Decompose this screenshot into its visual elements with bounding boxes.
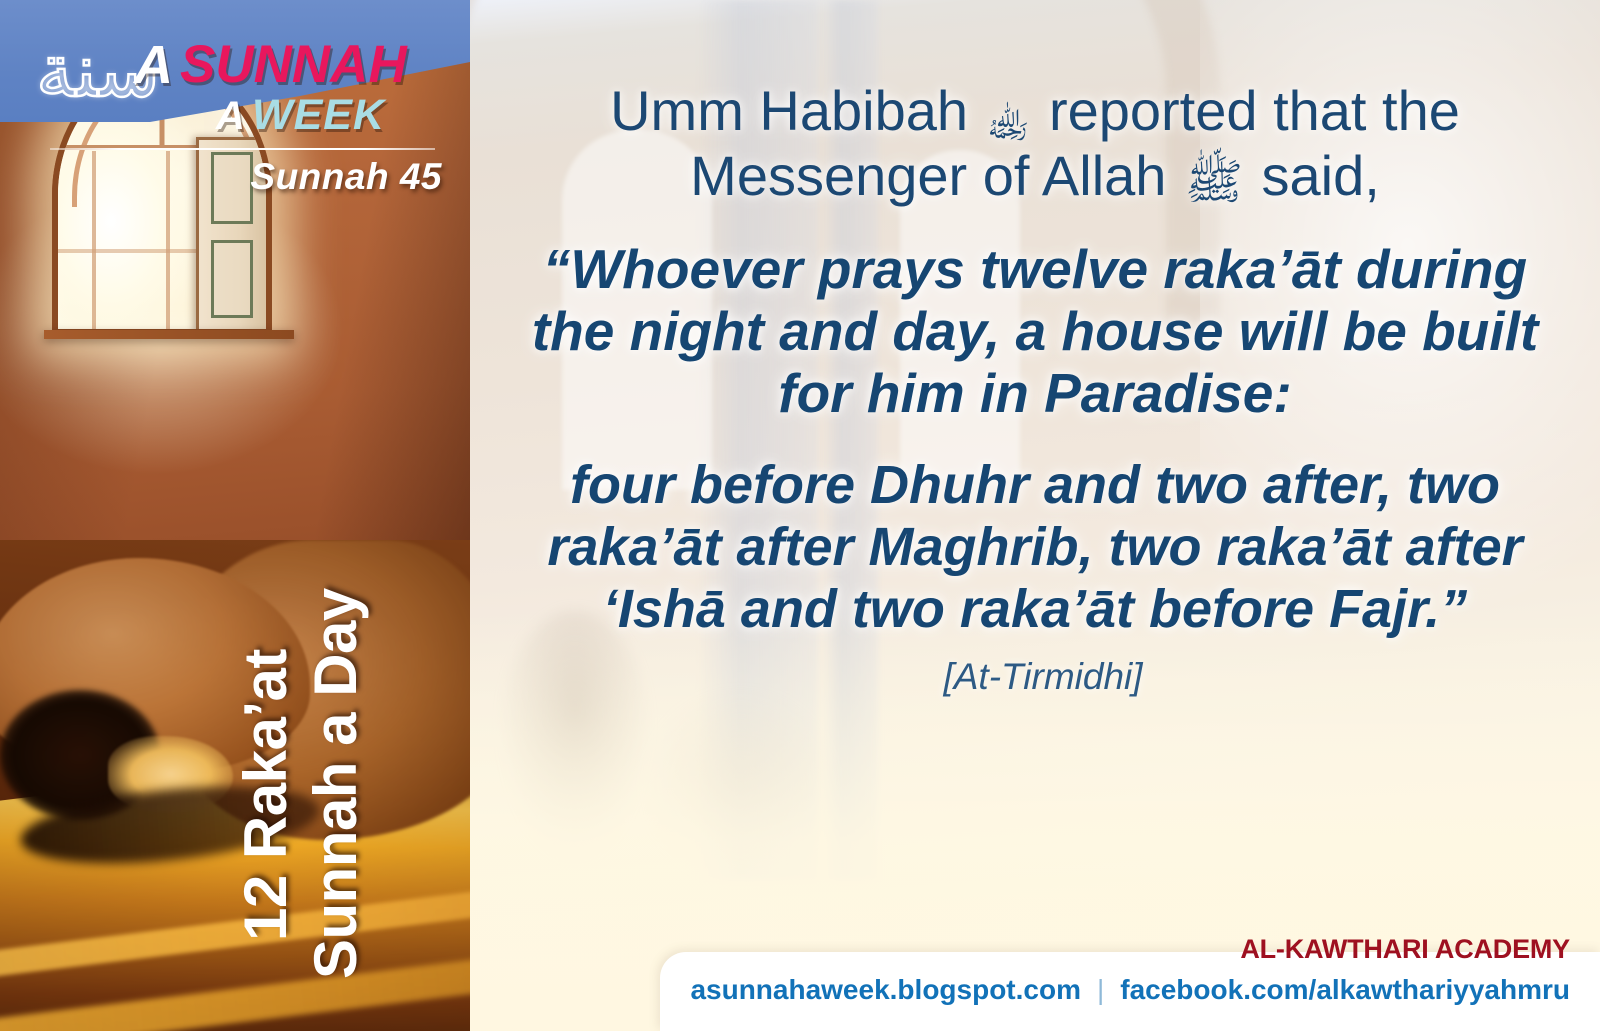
brand-logo: سنة A SUNNAH A WEEK xyxy=(36,20,436,132)
facebook-link[interactable]: facebook.com/alkawthariyyahmru xyxy=(1120,974,1570,1005)
hadith-content: Umm Habibah ﵀ reported that the Messenge… xyxy=(470,0,1600,702)
hadith-quote-detail: four before Dhuhr and two after, two rak… xyxy=(492,454,1578,702)
blog-link[interactable]: asunnahaweek.blogspot.com xyxy=(690,974,1081,1005)
issue-label: Sunnah 45 xyxy=(250,156,442,198)
window-sill xyxy=(44,330,294,339)
hadith-quote-detail-text: four before Dhuhr and two after, two rak… xyxy=(547,455,1522,639)
shutter-panel-top xyxy=(211,152,253,224)
narration-said: said, xyxy=(1262,144,1380,207)
vertical-title-line-2: Sunnah a Day xyxy=(301,588,370,979)
window-mullion-left xyxy=(92,151,96,335)
sunnah-poster: سنة A SUNNAH A WEEK Sunnah 45 12 Raka’at… xyxy=(0,0,1600,1031)
logo-line2-article: A xyxy=(216,94,245,139)
logo-week-word: WEEK xyxy=(252,91,385,140)
shutter-panel-bottom xyxy=(211,240,253,318)
hadith-quote-primary: “Whoever prays twelve raka’āt during the… xyxy=(492,238,1578,424)
footer-links: asunnahaweek.blogspot.com|facebook.com/a… xyxy=(690,974,1570,1006)
footer-separator: | xyxy=(1097,974,1104,1005)
logo-sunnah-word: SUNNAH xyxy=(180,34,407,95)
main-panel: Umm Habibah ﵀ reported that the Messenge… xyxy=(470,0,1600,1031)
radiyallahu-anha-icon: ﵀ xyxy=(986,89,1030,145)
sidebar: سنة A SUNNAH A WEEK Sunnah 45 12 Raka’at… xyxy=(0,0,470,1031)
vertical-title-line-1: 12 Raka’at xyxy=(231,649,300,941)
sallallahu-alayhi-wasallam-icon: ﷺ xyxy=(1185,154,1243,210)
header-divider-rule xyxy=(50,148,435,150)
logo-line1-article: A xyxy=(134,34,172,96)
hadith-source: [At-Tirmidhi] xyxy=(943,656,1142,699)
narrator-name: Umm Habibah xyxy=(610,79,968,142)
footer-bar: AL-KAWTHARI ACADEMY asunnahaweek.blogspo… xyxy=(660,952,1600,1031)
window-mullion-mid xyxy=(166,151,170,335)
narration-text: Umm Habibah ﵀ reported that the Messenge… xyxy=(492,80,1578,210)
academy-name: AL-KAWTHARI ACADEMY xyxy=(1240,934,1570,965)
